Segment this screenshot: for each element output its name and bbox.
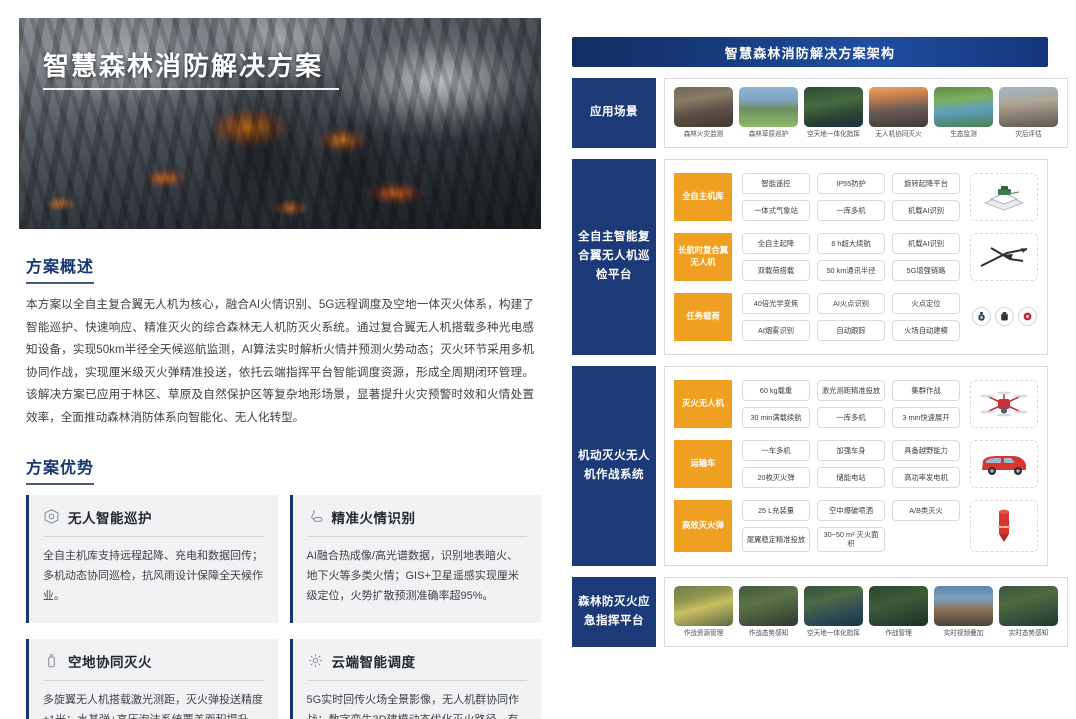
arch-row-body: 作战资源管理 作战态势感知 空天地一体化指挥 作战管理 [664,577,1068,647]
gimbal-pod-icon [972,307,991,326]
list-item[interactable]: 空天地一体化指挥 [804,586,863,638]
arch-row-label: 应用场景 [572,78,656,148]
list-item[interactable]: 森林草原巡护 [739,87,798,139]
divider [307,536,528,537]
arch-row-body: 森林火灾监测 森林草原巡护 空天地一体化指挥 无人机协同灭火 [664,78,1068,148]
scenario-image [869,87,928,127]
solution-brochure-page: 智慧森林消防解决方案 方案概述 本方案以全自主复合翼无人机为核心，融合AI火情识… [0,0,1076,719]
hero-title: 智慧森林消防解决方案 [43,46,323,83]
tag[interactable]: 25 L充装量 [742,500,810,521]
scenario-caption: 森林草原巡护 [739,131,798,139]
hero-banner: 智慧森林消防解决方案 [19,18,541,229]
arch-row-body: 全自主机库 智能遥控 IP55防护 旋转起降平台 一体式气象站 一库多机 机载A… [664,159,1048,355]
advantage-card-4: 云端智能调度 5G实时回传火场全景影像，无人机群协同作战；数字孪生3D建模动态优… [290,639,542,719]
module-tags: 一车多机 加强车身 具备越野能力 20枚灭火弹 储能电站 高功率发电机 [742,440,960,488]
tag[interactable]: 机载AI识别 [892,233,960,254]
advantage-card-2-text: AI融合热成像/高光谱数据，识别地表暗火、地下火等多类火情；GIS+卫星遥感实现… [307,546,528,607]
overview-heading-wrap: 方案概述 [26,253,560,284]
scenario-image [999,87,1058,127]
payload-pods-icon [970,293,1038,341]
arch-row-label: 机动灭火无人机作战系统 [572,366,656,566]
list-item[interactable]: 森林火灾监测 [674,87,733,139]
advantage-card-4-title: 云端智能调度 [332,651,416,671]
arch-row-label: 全自主智能复合翼无人机巡检平台 [572,159,656,355]
module-tags: 60 kg载重 激光测距精准投放 集群作战 30 min满载续航 一库多机 3 … [742,380,960,428]
tag[interactable]: 20枚灭火弹 [742,467,810,488]
tag[interactable]: 50 km通讯半径 [817,260,885,281]
tag[interactable]: 全自主起降 [742,233,810,254]
scenario-image [934,87,993,127]
tag[interactable]: 激光测距精准投放 [817,380,885,401]
module-fire-bomb: 高效灭火弹 25 L充装量 空中爆破喷洒 A/B类灭火 尾翼稳定精准投放 30~… [674,495,1038,557]
tag[interactable]: 空中爆破喷洒 [817,500,885,521]
overview-body: 本方案以全自主复合翼无人机为核心，融合AI火情识别、5G远程调度及空地一体灭火体… [26,294,534,430]
platform-caption: 实时视频叠加 [934,630,993,638]
advantage-card-2-title: 精准火情识别 [332,507,416,527]
tag[interactable]: 尾翼稳定精准投放 [742,527,810,552]
scenario-caption: 无人机协同灭火 [869,131,928,139]
platform-image [674,586,733,626]
module-label: 灭火无人机 [674,380,732,428]
tag[interactable]: 一库多机 [817,407,885,428]
list-item[interactable]: 空天地一体化指挥 [804,87,863,139]
arch-row-command-platform: 森林防灭火应急指挥平台 作战资源管理 作战态势感知 空天地一体化指挥 [572,577,1048,647]
advantage-card-3-head: 空地协同灭火 [43,651,264,671]
tag[interactable]: 高功率发电机 [892,467,960,488]
platform-thumbnails: 作战资源管理 作战态势感知 空天地一体化指挥 作战管理 [674,586,1058,638]
tag[interactable]: 40倍光学变焦 [742,293,810,314]
extinguisher-icon [43,652,60,669]
tag[interactable]: 机载AI识别 [892,200,960,221]
tag[interactable]: 30 min满载续航 [742,407,810,428]
list-item[interactable]: 实时视频叠加 [934,586,993,638]
module-tags: 全自主起降 6 h超大续航 机载AI识别 双载荷搭载 50 km通讯半径 5G增… [742,233,960,281]
advantage-card-2: 精准火情识别 AI融合热成像/高光谱数据，识别地表暗火、地下火等多类火情；GIS… [290,495,542,623]
scenario-caption: 空天地一体化指挥 [804,131,863,139]
advantage-card-1-title: 无人智能巡护 [68,507,152,527]
list-item[interactable]: 实时态势感知 [999,586,1058,638]
architecture-header: 智慧森林消防解决方案架构 [572,37,1048,67]
module-label: 全自主机库 [674,173,732,221]
platform-caption: 作战态势感知 [739,630,798,638]
advantage-card-4-text: 5G实时回传火场全景影像，无人机群协同作战；数字孪生3D建模动态优化灭火路径，有… [307,690,528,719]
advantage-card-1-text: 全自主机库支持远程起降、充电和数据回传；多机动态协同巡检，抗风雨设计保障全天候作… [43,546,264,607]
module-fixed-wing: 长航时复合翼无人机 全自主起降 6 h超大续航 机载AI识别 双载荷搭载 50 … [674,228,1038,286]
tag[interactable]: 具备越野能力 [892,440,960,461]
arch-row-body: 灭火无人机 60 kg载重 激光测距精准投放 集群作战 30 min满载续航 一… [664,366,1048,566]
transport-van-icon [970,440,1038,488]
platform-caption: 空天地一体化指挥 [804,630,863,638]
platform-caption: 作战管理 [869,630,928,638]
module-tags: 40倍光学变焦 AI火点识别 火点定位 AI烟雾识别 自动跟踪 火场自动建模 [742,293,960,341]
overview-heading: 方案概述 [26,253,94,284]
scenario-caption: 森林火灾监测 [674,131,733,139]
tag[interactable]: 火点定位 [892,293,960,314]
tag[interactable]: 一车多机 [742,440,810,461]
advantage-card-1-head: 无人智能巡护 [43,507,264,527]
hero-underline [43,88,339,90]
module-label: 高效灭火弹 [674,500,732,552]
advantage-card-2-head: 精准火情识别 [307,507,528,527]
module-label: 运输车 [674,440,732,488]
tag[interactable]: 60 kg载重 [742,380,810,401]
tag[interactable]: A/B类灭火 [892,500,960,521]
scenario-image [674,87,733,127]
scenario-thumbnails: 森林火灾监测 森林草原巡护 空天地一体化指挥 无人机协同灭火 [674,87,1058,139]
platform-caption: 作战资源管理 [674,630,733,638]
sensor-pod-icon [995,307,1014,326]
tag[interactable]: 智能遥控 [742,173,810,194]
tag[interactable]: 5G增强链路 [892,260,960,281]
tag[interactable]: 一库多机 [817,200,885,221]
cloud-gear-icon [307,652,324,669]
fire-bomb-icon [970,500,1038,552]
tag[interactable]: 集群作战 [892,380,960,401]
tag[interactable]: 自动跟踪 [817,320,885,341]
list-item[interactable]: 生态监测 [934,87,993,139]
tag[interactable]: 双载荷搭载 [742,260,810,281]
list-item[interactable]: 灾后评估 [999,87,1058,139]
advantages-heading-wrap: 方案优势 [26,454,560,485]
module-tags: 智能遥控 IP55防护 旋转起降平台 一体式气象站 一库多机 机载AI识别 [742,173,960,221]
hexagon-gear-icon [43,508,60,525]
module-label: 长航时复合翼无人机 [674,233,732,281]
platform-image [869,586,928,626]
advantage-card-4-head: 云端智能调度 [307,651,528,671]
advantage-card-3-title: 空地协同灭火 [68,651,152,671]
module-tags: 25 L充装量 空中爆破喷洒 A/B类灭火 尾翼稳定精准投放 30~50 m² … [742,500,960,552]
architecture-column: 智慧森林消防解决方案架构 应用场景 森林火灾监测 森林草原巡护 空天地一体 [560,0,1076,719]
tag-empty [892,527,960,552]
tag[interactable]: 旋转起降平台 [892,173,960,194]
module-label: 任务载荷 [674,293,732,341]
tag[interactable]: AI火点识别 [817,293,885,314]
tag[interactable]: IP55防护 [817,173,885,194]
advantage-card-1: 无人智能巡护 全自主机库支持远程起降、充电和数据回传；多机动态协同巡检，抗风雨设… [26,495,278,623]
tag[interactable]: 储能电站 [817,467,885,488]
module-transport-vehicle: 运输车 一车多机 加强车身 具备越野能力 20枚灭火弹 储能电站 高功率发电机 [674,435,1038,493]
tag[interactable]: 3 min快速展开 [892,407,960,428]
dock-icon [970,173,1038,221]
platform-image [934,586,993,626]
tag[interactable]: 火场自动建模 [892,320,960,341]
platform-image [999,586,1058,626]
divider [307,680,528,681]
arch-row-patrol-platform: 全自主智能复合翼无人机巡检平台 全自主机库 智能遥控 IP55防护 旋转起降平台… [572,159,1048,355]
list-item[interactable]: 作战资源管理 [674,586,733,638]
divider [43,680,264,681]
advantages-heading: 方案优势 [26,454,94,485]
module-firefighting-drone: 灭火无人机 60 kg载重 激光测距精准投放 集群作战 30 min满载续航 一… [674,375,1038,433]
advantage-card-3: 空地协同灭火 多旋翼无人机搭载激光测距，灭火弹投送精度±1米；水基弹+高压泡沫系… [26,639,278,719]
platform-caption: 实时态势感知 [999,630,1058,638]
divider [43,536,264,537]
fixed-wing-drone-icon [970,233,1038,281]
advantage-card-3-text: 多旋翼无人机搭载激光测距，灭火弹投送精度±1米；水基弹+高压泡沫系统覆盖面积提升… [43,690,264,719]
tag[interactable]: 30~50 m² 灭火面积 [817,527,885,552]
list-item[interactable]: 无人机协同灭火 [869,87,928,139]
arch-row-application-scenarios: 应用场景 森林火灾监测 森林草原巡护 空天地一体化指挥 [572,78,1048,148]
arch-row-label: 森林防灭火应急指挥平台 [572,577,656,647]
advantages-grid: 无人智能巡护 全自主机库支持远程起降、充电和数据回传；多机动态协同巡检，抗风雨设… [26,495,541,719]
arch-row-mobile-firefighting: 机动灭火无人机作战系统 灭火无人机 60 kg载重 激光测距精准投放 集群作战 … [572,366,1048,566]
module-payload: 任务载荷 40倍光学变焦 AI火点识别 火点定位 AI烟雾识别 自动跟踪 火场自… [674,288,1038,346]
multirotor-drone-icon [970,380,1038,428]
tag[interactable]: 一体式气象站 [742,200,810,221]
scenario-image [804,87,863,127]
list-item[interactable]: 作战管理 [869,586,928,638]
scenario-image [739,87,798,127]
scenario-caption: 灾后评估 [999,131,1058,139]
platform-image [739,586,798,626]
tag[interactable]: AI烟雾识别 [742,320,810,341]
left-column: 智慧森林消防解决方案 方案概述 本方案以全自主复合翼无人机为核心，融合AI火情识… [0,0,560,719]
list-item[interactable]: 作战态势感知 [739,586,798,638]
module-dock: 全自主机库 智能遥控 IP55防护 旋转起降平台 一体式气象站 一库多机 机载A… [674,168,1038,226]
flame-cloud-icon [307,508,324,525]
thermal-pod-icon [1018,307,1037,326]
platform-image [804,586,863,626]
scenario-caption: 生态监测 [934,131,993,139]
tag[interactable]: 6 h超大续航 [817,233,885,254]
tag[interactable]: 加强车身 [817,440,885,461]
